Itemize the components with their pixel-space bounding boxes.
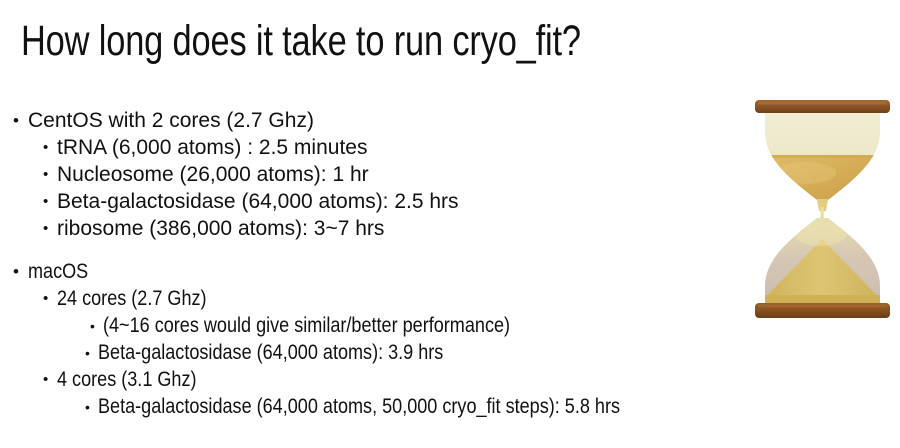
list-item-label: Nucleosome (26,000 atoms): 1 hr [57, 162, 369, 188]
hourglass-image [754, 99, 891, 319]
bullet-glyph: • [13, 108, 19, 134]
list-item-label: Beta-galactosidase (64,000 atoms): 3.9 h… [98, 340, 443, 366]
list-item: • (4~16 cores would give similar/better … [0, 313, 760, 340]
bullet-glyph: • [43, 367, 48, 393]
hourglass-lower-bulb [756, 218, 888, 309]
bullet-glyph: • [43, 162, 48, 188]
list-item: • Nucleosome (26,000 atoms): 1 hr [0, 162, 760, 189]
bullet-glyph: • [13, 259, 19, 285]
bullet-glyph: • [43, 216, 48, 242]
list-item-label: CentOS with 2 cores (2.7 Ghz) [28, 108, 314, 134]
page-title: How long does it take to run cryo_fit? [21, 16, 581, 66]
slide-canvas: How long does it take to run cryo_fit? •… [0, 0, 900, 448]
bullet-glyph: • [90, 313, 95, 339]
bullet-glyph: • [43, 286, 48, 312]
hourglass-upper-bulb [762, 112, 884, 205]
bullet-list: • CentOS with 2 cores (2.7 Ghz) • tRNA (… [0, 108, 760, 421]
list-spacer [0, 243, 760, 259]
hourglass-bottom-cap [755, 303, 890, 318]
list-item-label: Beta-galactosidase (64,000 atoms, 50,000… [98, 394, 620, 420]
list-item: • tRNA (6,000 atoms) : 2.5 minutes [0, 135, 760, 162]
list-item: • 4 cores (3.1 Ghz) [0, 367, 760, 394]
list-item-label: ribosome (386,000 atoms): 3~7 hrs [57, 216, 384, 242]
hourglass-top-cap [755, 100, 890, 113]
list-item-label: 4 cores (3.1 Ghz) [57, 367, 197, 393]
list-item: • Beta-galactosidase (64,000 atoms): 3.9… [0, 340, 760, 367]
list-item-label: macOS [28, 259, 88, 285]
list-item: • Beta-galactosidase (64,000 atoms, 50,0… [0, 394, 760, 421]
list-item-label: (4~16 cores would give similar/better pe… [103, 313, 510, 339]
bullet-glyph: • [85, 340, 90, 366]
list-item: • Beta-galactosidase (64,000 atoms): 2.5… [0, 189, 760, 216]
list-item: • ribosome (386,000 atoms): 3~7 hrs [0, 216, 760, 243]
list-item: • CentOS with 2 cores (2.7 Ghz) [0, 108, 760, 135]
list-item-label: tRNA (6,000 atoms) : 2.5 minutes [57, 135, 367, 161]
list-item: • 24 cores (2.7 Ghz) [0, 286, 760, 313]
list-item-label: 24 cores (2.7 Ghz) [57, 286, 207, 312]
list-item: • macOS [0, 259, 760, 286]
hourglass-with-flowing-sand-icon [754, 99, 891, 319]
bullet-glyph: • [43, 189, 48, 215]
bullet-glyph: • [85, 394, 90, 420]
list-item-label: Beta-galactosidase (64,000 atoms): 2.5 h… [57, 189, 459, 215]
bullet-glyph: • [43, 135, 48, 161]
